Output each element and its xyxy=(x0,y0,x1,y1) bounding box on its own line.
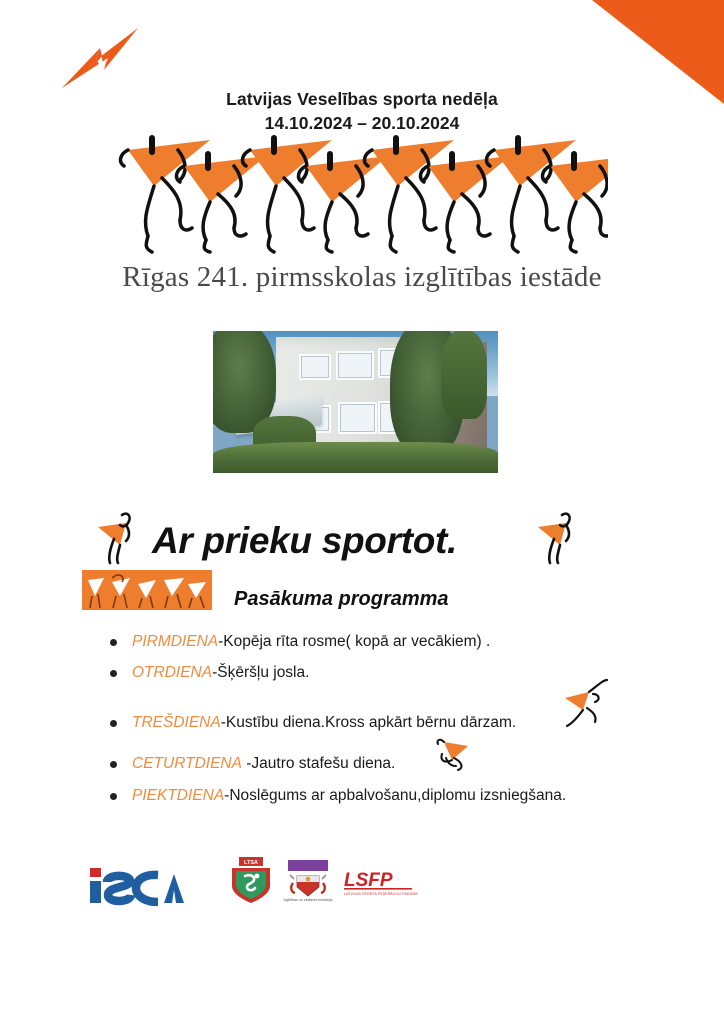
page-title: Latvijas Veselības sporta nedēļa xyxy=(0,88,724,112)
programme-description: -Kopēja rīta rosme( kopā ar vecākiem) . xyxy=(218,633,490,650)
programme-description: -Kustību diena.Kross apkārt bērnu dārzam… xyxy=(221,714,517,731)
list-item: PIRMDIENA-Kopēja rīta rosme( kopā ar vec… xyxy=(104,632,664,651)
lsfp-subtitle: LATVIJAS SPORTA FEDERĀCIJU PADOME xyxy=(344,892,419,896)
programme-day: TREŠDIENA xyxy=(132,714,221,731)
programme-description: -Šķēršļu josla. xyxy=(212,664,309,681)
stick-figure-icon-right xyxy=(536,505,576,565)
running-figures-illustration xyxy=(118,128,608,258)
izm-label: Izglītības un zinātnes ministrija xyxy=(284,898,333,902)
building-photo xyxy=(213,331,498,473)
programme-day: PIRMDIENA xyxy=(132,633,218,650)
poster-page: Latvijas Veselības sporta nedēļa 14.10.2… xyxy=(0,0,724,1024)
lssa-logo: LTSA xyxy=(228,856,274,904)
programme-day: PIEKTDIENA xyxy=(132,787,224,804)
programme-day: OTRDIENA xyxy=(132,664,212,681)
programme-description: -Noslēgums ar apbalvošanu,diplomu izsnie… xyxy=(224,787,566,804)
izm-logo: Izglītības un zinātnes ministrija xyxy=(282,858,334,904)
list-item: PIEKTDIENA-Noslēgums ar apbalvošanu,dipl… xyxy=(104,786,664,805)
banner-figures-icon xyxy=(82,570,212,610)
programme-day: CETURTDIENA xyxy=(132,755,242,772)
programme-description: -Jautro stafešu diena. xyxy=(242,755,395,772)
lsfp-label: LSFP xyxy=(344,870,393,891)
programme-heading: Pasākuma programma xyxy=(234,588,449,611)
lsfp-logo: LSFP LATVIJAS SPORTA FEDERĀCIJU PADOME xyxy=(340,866,424,898)
sponsor-logos: LTSA Izglītības un zinātnes ministrija L… xyxy=(88,856,428,912)
slogan-text: Ar prieku sportot. xyxy=(152,520,457,562)
institution-name: Rīgas 241. pirmsskolas izglītības iestād… xyxy=(0,261,724,294)
star-burst-icon xyxy=(60,26,140,92)
skating-figure-icon xyxy=(563,678,611,728)
isca-logo xyxy=(88,864,184,906)
orange-figures-banner xyxy=(82,570,212,610)
list-item: CETURTDIENA -Jautro stafešu diena. xyxy=(104,754,664,773)
lssa-label: LTSA xyxy=(244,860,258,866)
tumbling-figure-icon xyxy=(430,736,478,774)
stick-figure-icon-left xyxy=(96,505,136,565)
